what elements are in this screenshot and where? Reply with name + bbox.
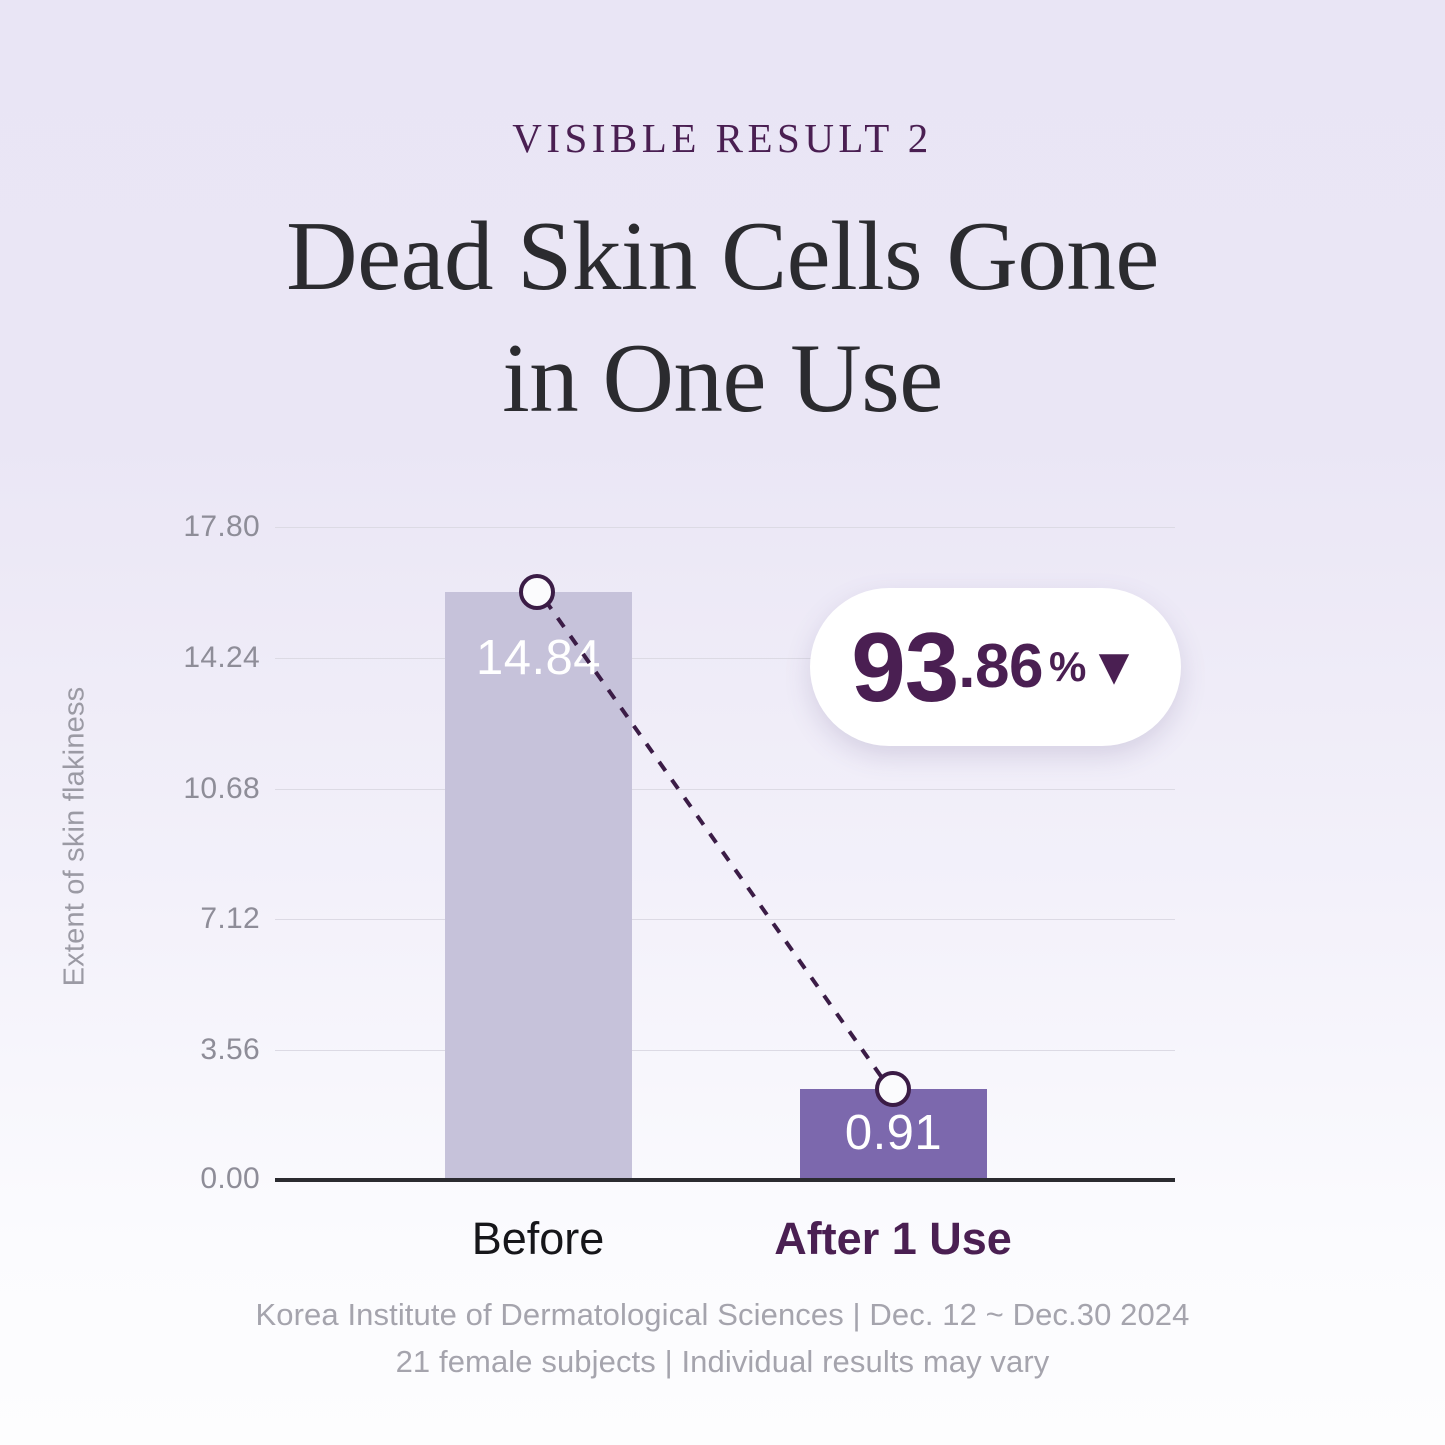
y-tick-7-12: 7.12 xyxy=(140,902,260,936)
reduction-badge: 93 .86 % ▼ xyxy=(810,588,1181,746)
bar-before[interactable]: 14.84 xyxy=(445,592,632,1178)
gridline-3-56 xyxy=(275,1050,1175,1051)
poster-canvas: VISIBLE RESULT 2 Dead Skin Cells Gone in… xyxy=(0,0,1445,1445)
x-axis-label-before: Before xyxy=(388,1213,688,1265)
y-tick-3-56: 3.56 xyxy=(140,1033,260,1067)
gridline-10-68 xyxy=(275,789,1175,790)
y-tick-17-80: 17.80 xyxy=(140,510,260,544)
footnote-line-2: 21 female subjects | Individual results … xyxy=(0,1344,1445,1380)
trend-connector-line xyxy=(0,0,1445,1445)
badge-percent-sign: % xyxy=(1049,646,1086,688)
footnote-line-1: Korea Institute of Dermatological Scienc… xyxy=(0,1297,1445,1333)
bar-after-value: 0.91 xyxy=(800,1105,987,1161)
x-axis-baseline xyxy=(275,1178,1175,1182)
down-triangle-icon: ▼ xyxy=(1088,641,1139,693)
y-tick-10-68: 10.68 xyxy=(140,772,260,806)
y-tick-0-00: 0.00 xyxy=(140,1162,260,1196)
y-axis-title: Extent of skin flakiness xyxy=(59,667,92,1007)
data-point-marker-before[interactable] xyxy=(519,574,555,610)
data-point-marker-after[interactable] xyxy=(875,1071,911,1107)
badge-integer: 93 xyxy=(851,618,958,716)
gridline-7-12 xyxy=(275,919,1175,920)
x-axis-label-after: After 1 Use xyxy=(743,1213,1043,1265)
gridline-17-80 xyxy=(275,527,1175,528)
y-tick-14-24: 14.24 xyxy=(140,641,260,675)
badge-decimal: .86 xyxy=(958,636,1043,698)
bar-before-value: 14.84 xyxy=(445,630,632,686)
bar-chart: Extent of skin flakiness 17.80 14.24 10.… xyxy=(0,0,1445,1445)
